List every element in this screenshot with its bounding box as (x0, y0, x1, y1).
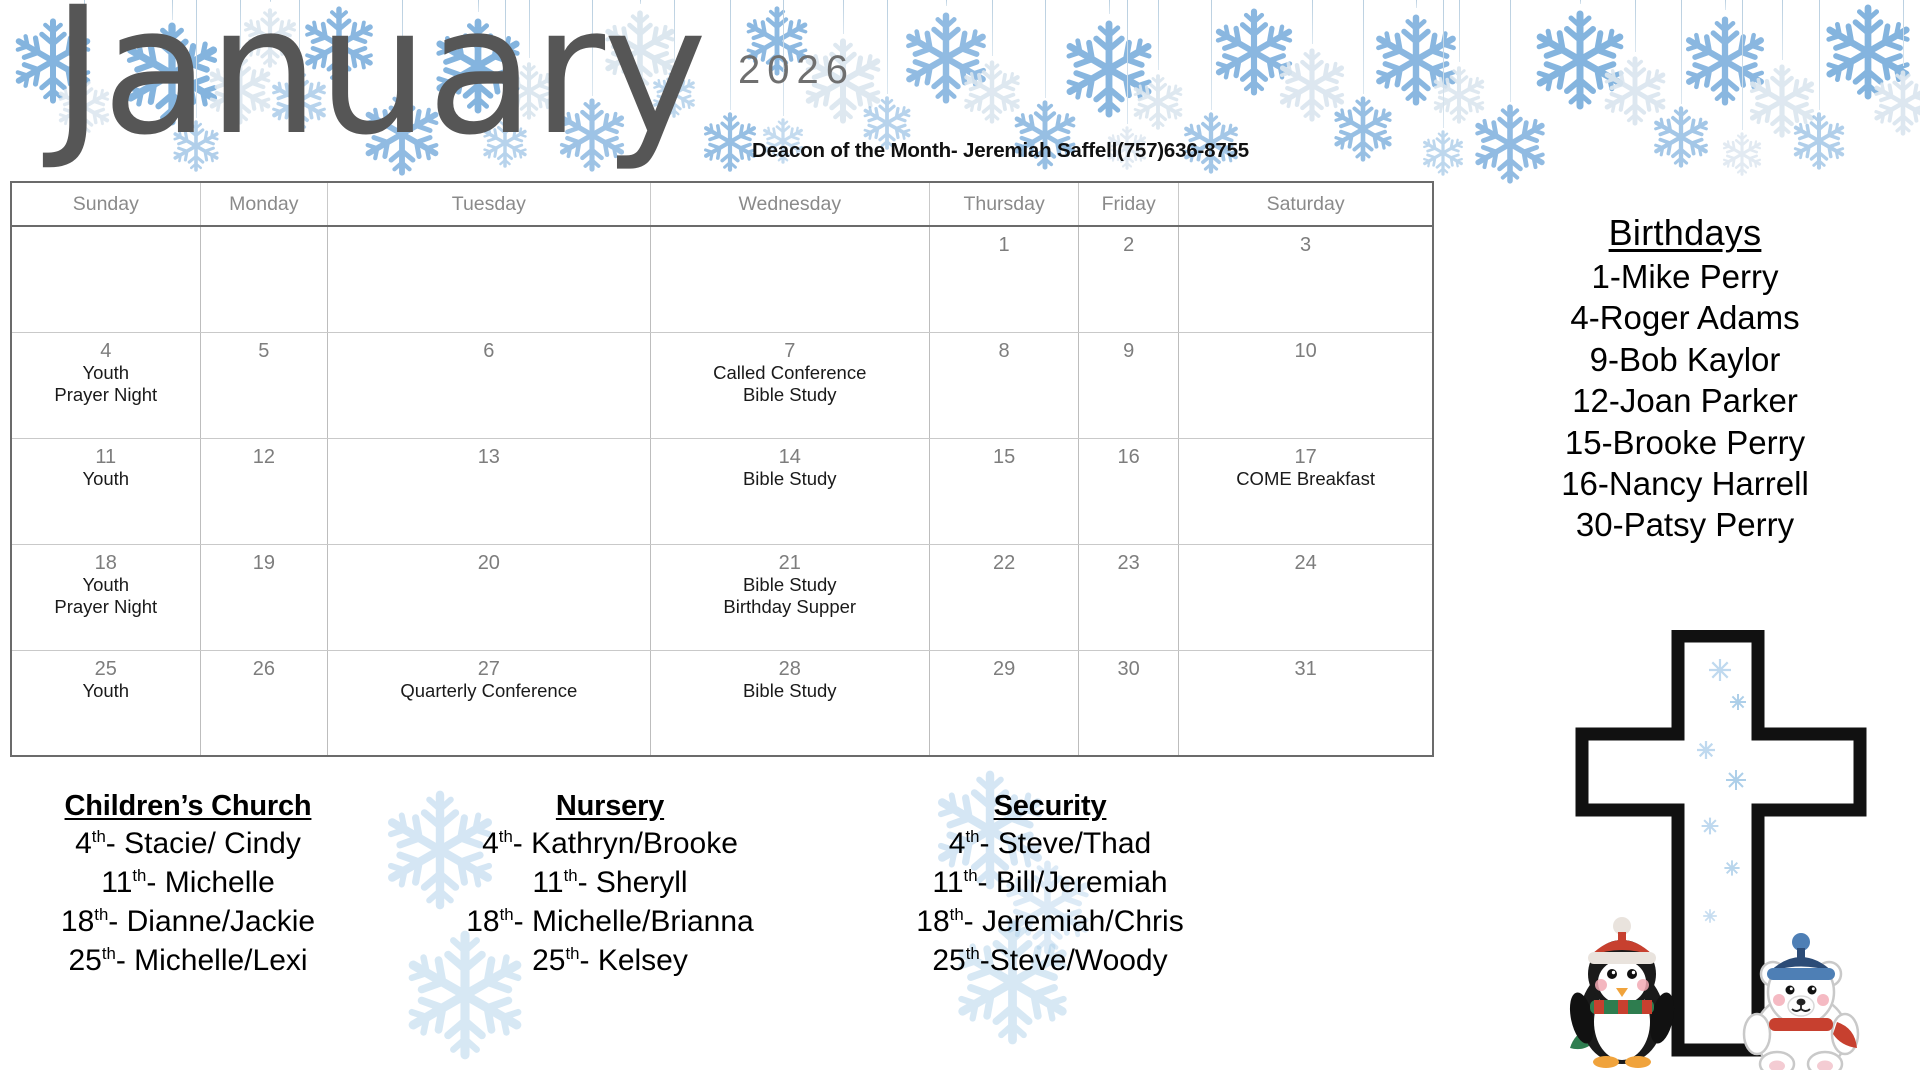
year-label: 2026 (738, 48, 855, 93)
roster-entry-names: - Bill/Jeremiah (978, 866, 1168, 899)
roster-title: Children’s Church (8, 790, 368, 823)
month-calendar: SundayMondayTuesdayWednesdayThursdayFrid… (10, 181, 1434, 757)
snowflake-icon (1820, 4, 1916, 100)
snowflake-string (843, 0, 844, 34)
snowflake-string (1725, 0, 1726, 10)
snowflake-string (1109, 0, 1110, 14)
calendar-day-30[interactable]: 30 (1079, 650, 1179, 756)
calendar-header-row: SundayMondayTuesdayWednesdayThursdayFrid… (11, 182, 1433, 226)
snowflake-string (1127, 0, 1128, 124)
roster-entry-day: 4 (75, 827, 92, 860)
day-number: 17 (1179, 439, 1432, 468)
snowflake-icon (1600, 56, 1670, 126)
roster-entry-day: 11 (101, 866, 132, 899)
day-number: 28 (651, 651, 930, 680)
roster-entry-ordinal: th (132, 866, 146, 885)
snowflake-string (730, 0, 731, 110)
roster-entry-day: 25 (532, 944, 565, 977)
roster-security: Security 4th- Steve/Thad11th- Bill/Jerem… (850, 790, 1250, 980)
roster-entry-ordinal: th (92, 827, 106, 846)
roster-entry-names: - Kelsey (580, 944, 688, 977)
snowflake-string (1819, 0, 1820, 110)
birthday-item: 9-Bob Kaylor (1470, 339, 1900, 380)
calendar-day-16[interactable]: 16 (1079, 438, 1179, 544)
calendar-day-29[interactable]: 29 (930, 650, 1079, 756)
snowflake-icon (1420, 130, 1466, 176)
birthdays-title: Birthdays (1470, 212, 1900, 254)
day-event: COME Breakfast (1179, 468, 1432, 491)
calendar-day-12[interactable]: 12 (200, 438, 328, 544)
day-number: 7 (651, 333, 930, 362)
roster-entry: 25th- Michelle/Lexi (8, 941, 368, 980)
roster-entry-ordinal: th (564, 866, 578, 885)
roster-entry-names: - Michelle (146, 866, 274, 899)
roster-entry: 11th- Sheryll (430, 863, 790, 902)
day-event: Quarterly Conference (328, 680, 649, 703)
snowflake-string (1459, 0, 1460, 62)
calendar-day-empty[interactable] (11, 226, 200, 332)
weekday-header-wednesday: Wednesday (650, 182, 930, 226)
calendar-day-10[interactable]: 10 (1179, 332, 1433, 438)
snowflake-icon (1870, 70, 1920, 136)
birthday-item: 30-Patsy Perry (1470, 504, 1900, 545)
calendar-day-21[interactable]: 21Bible StudyBirthday Supper (650, 544, 930, 650)
day-event: Prayer Night (12, 384, 200, 407)
day-number: 11 (12, 439, 200, 468)
roster-entry: 18th- Jeremiah/Chris (850, 902, 1250, 941)
day-event: Bible Study (651, 574, 930, 597)
deacon-of-the-month: Deacon of the Month- Jeremiah Saffell(75… (752, 139, 1249, 163)
birthday-item: 1-Mike Perry (1470, 256, 1900, 297)
snowflake-icon (900, 12, 992, 104)
roster-entries: 4th- Stacie/ Cindy11th- Michelle18th- Di… (8, 824, 368, 980)
day-event: Birthday Supper (651, 596, 930, 619)
roster-entry-day: 25 (932, 944, 965, 977)
weekday-header-tuesday: Tuesday (328, 182, 650, 226)
roster-title: Security (850, 790, 1250, 823)
roster-entry: 4th- Kathryn/Brooke (430, 824, 790, 863)
calendar-day-empty[interactable] (328, 226, 650, 332)
snowflake-icon (1680, 16, 1770, 106)
birthday-item: 16-Nancy Harrell (1470, 463, 1900, 504)
roster-entry: 11th- Bill/Jeremiah (850, 863, 1250, 902)
birthday-item: 15-Brooke Perry (1470, 422, 1900, 463)
calendar-day-empty[interactable] (650, 226, 930, 332)
day-event: Called Conference (651, 362, 930, 385)
roster-entry: 11th- Michelle (8, 863, 368, 902)
calendar-day-15[interactable]: 15 (930, 438, 1079, 544)
day-number: 15 (930, 439, 1078, 468)
day-event: Youth (12, 574, 200, 597)
birthday-item: 12-Joan Parker (1470, 380, 1900, 421)
snowflake-icon (1060, 20, 1158, 118)
day-number: 10 (1179, 333, 1432, 362)
calendar-day-3[interactable]: 3 (1179, 226, 1433, 332)
calendar-day-28[interactable]: 28Bible Study (650, 650, 930, 756)
day-event: Youth (12, 680, 200, 703)
roster-entry-day: 18 (916, 905, 949, 938)
calendar-week-row: 11Youth121314Bible Study151617COME Break… (11, 438, 1433, 544)
snowflake-string (1045, 0, 1046, 98)
day-number: 19 (201, 545, 328, 574)
snowflake-icon (1650, 106, 1712, 168)
snowflake-icon (1720, 132, 1764, 176)
day-event: Youth (12, 362, 200, 385)
day-number: 12 (201, 439, 328, 468)
roster-title: Nursery (430, 790, 790, 823)
roster-entry-names: - Jeremiah/Chris (964, 905, 1184, 938)
roster-entry-names: - Stacie/ Cindy (106, 827, 301, 860)
calendar-day-22[interactable]: 22 (930, 544, 1079, 650)
day-number: 24 (1179, 545, 1432, 574)
calendar-week-row: 123 (11, 226, 1433, 332)
calendar-day-6[interactable]: 6 (328, 332, 650, 438)
roster-entry-day: 18 (61, 905, 94, 938)
snowflake-icon (700, 112, 760, 172)
calendar-day-20[interactable]: 20 (328, 544, 650, 650)
roster-entry-names: - Michelle/Brianna (514, 905, 754, 938)
day-number: 27 (328, 651, 649, 680)
roster-entry-names: - Steve/Thad (979, 827, 1151, 860)
roster-nursery: Nursery 4th- Kathryn/Brooke11th- Sheryll… (430, 790, 790, 980)
roster-entry: 4th- Steve/Thad (850, 824, 1250, 863)
weekday-header-monday: Monday (200, 182, 328, 226)
snowflake-string (1211, 0, 1212, 110)
calendar-day-26[interactable]: 26 (200, 650, 328, 756)
calendar-day-11[interactable]: 11Youth (11, 438, 200, 544)
weekday-header-sunday: Sunday (11, 182, 200, 226)
calendar-day-5[interactable]: 5 (200, 332, 328, 438)
day-number: 16 (1079, 439, 1178, 468)
snowflake-icon (1790, 112, 1848, 170)
day-number: 6 (328, 333, 649, 362)
snowflake-icon (1275, 48, 1349, 122)
snowflake-icon (960, 60, 1024, 124)
day-number: 30 (1079, 651, 1178, 680)
snowflake-string (1742, 0, 1743, 130)
snowflake-string (1580, 0, 1581, 4)
snowflake-string (1363, 0, 1364, 94)
calendar-page: January 2026 Deacon of the Month- Jeremi… (0, 0, 1920, 1080)
page-title: January (52, 0, 705, 160)
roster-entry-day: 4 (482, 827, 499, 860)
snowflake-icon (1130, 74, 1186, 130)
snowflake-icon (1330, 96, 1396, 162)
day-number: 8 (930, 333, 1078, 362)
snowflake-string (1635, 0, 1636, 52)
calendar-day-13[interactable]: 13 (328, 438, 650, 544)
day-event: Bible Study (651, 384, 930, 407)
day-number: 9 (1079, 333, 1178, 362)
snowflake-string (887, 0, 888, 94)
roster-entry-day: 18 (466, 905, 499, 938)
calendar-day-27[interactable]: 27Quarterly Conference (328, 650, 650, 756)
snowflake-string (1158, 0, 1159, 70)
roster-entry-day: 11 (532, 866, 563, 899)
day-number: 22 (930, 545, 1078, 574)
day-number: 5 (201, 333, 328, 362)
day-number: 23 (1079, 545, 1178, 574)
snowflake-string (1443, 0, 1444, 128)
calendar-body: 1234YouthPrayer Night567Called Conferenc… (11, 226, 1433, 756)
day-number: 3 (1179, 227, 1432, 256)
birthdays-panel: Birthdays 1-Mike Perry4-Roger Adams9-Bob… (1470, 212, 1900, 546)
roster-entry-names: - Michelle/Lexi (116, 944, 308, 977)
roster-entry-ordinal: th (499, 827, 513, 846)
roster-entry-ordinal: th (566, 944, 580, 963)
day-number: 13 (328, 439, 649, 468)
roster-entry-ordinal: th (965, 827, 979, 846)
roster-entry-names: -Steve/Woody (980, 944, 1168, 977)
calendar-day-8[interactable]: 8 (930, 332, 1079, 438)
day-number: 25 (12, 651, 200, 680)
calendar-week-row: 4YouthPrayer Night567Called ConferenceBi… (11, 332, 1433, 438)
roster-childrens-church: Children’s Church 4th- Stacie/ Cindy11th… (8, 790, 368, 980)
snowflake-string (1510, 0, 1511, 102)
day-number: 29 (930, 651, 1078, 680)
day-number: 1 (930, 227, 1078, 256)
snowflake-string (1681, 0, 1682, 104)
calendar-day-23[interactable]: 23 (1079, 544, 1179, 650)
day-number: 18 (12, 545, 200, 574)
snowflake-string (992, 0, 993, 56)
day-number: 2 (1079, 227, 1178, 256)
snowflake-string (1903, 0, 1904, 66)
roster-entries: 4th- Steve/Thad11th- Bill/Jeremiah18th- … (850, 824, 1250, 980)
roster-entry-ordinal: th (94, 905, 108, 924)
penguin-illustration (1566, 917, 1678, 1068)
calendar-day-empty[interactable] (200, 226, 328, 332)
calendar-day-7[interactable]: 7Called ConferenceBible Study (650, 332, 930, 438)
roster-entry-ordinal: th (966, 944, 980, 963)
roster-entry-day: 25 (68, 944, 101, 977)
cross-illustration (1560, 630, 1900, 1070)
weekday-header-friday: Friday (1079, 182, 1179, 226)
snowflake-icon (1530, 10, 1630, 110)
birthday-item: 4-Roger Adams (1470, 297, 1900, 338)
calendar-day-14[interactable]: 14Bible Study (650, 438, 930, 544)
roster-entry-ordinal: th (964, 866, 978, 885)
roster-entry-names: - Kathryn/Brooke (513, 827, 738, 860)
calendar-week-row: 18YouthPrayer Night192021Bible StudyBirt… (11, 544, 1433, 650)
day-event: Prayer Night (12, 596, 200, 619)
roster-entry-ordinal: th (950, 905, 964, 924)
calendar-day-17[interactable]: 17COME Breakfast (1179, 438, 1433, 544)
roster-entry-ordinal: th (102, 944, 116, 963)
snowflake-icon (1430, 66, 1488, 124)
day-number: 21 (651, 545, 930, 574)
roster-entries: 4th- Kathryn/Brooke11th- Sheryll18th- Mi… (430, 824, 790, 980)
day-number: 26 (201, 651, 328, 680)
day-number: 4 (12, 333, 200, 362)
calendar-day-2[interactable]: 2 (1079, 226, 1179, 332)
calendar-day-4[interactable]: 4YouthPrayer Night (11, 332, 200, 438)
roster-entry-day: 11 (932, 866, 963, 899)
calendar-day-24[interactable]: 24 (1179, 544, 1433, 650)
calendar-day-9[interactable]: 9 (1079, 332, 1179, 438)
birthdays-list: 1-Mike Perry4-Roger Adams9-Bob Kaylor12-… (1470, 256, 1900, 546)
weekday-header-thursday: Thursday (930, 182, 1079, 226)
day-event: Bible Study (651, 680, 930, 703)
calendar-day-1[interactable]: 1 (930, 226, 1079, 332)
day-number: 20 (328, 545, 649, 574)
calendar-day-19[interactable]: 19 (200, 544, 328, 650)
day-number: 14 (651, 439, 930, 468)
weekday-header-saturday: Saturday (1179, 182, 1433, 226)
roster-entry: 25th- Kelsey (430, 941, 790, 980)
snowflake-icon (1370, 14, 1462, 106)
snowflake-icon (1745, 64, 1819, 138)
roster-entry-ordinal: th (500, 905, 514, 924)
snowflake-string (1416, 0, 1417, 8)
snowflake-icon (1470, 104, 1550, 184)
snowflake-string (1782, 0, 1783, 60)
roster-entry: 4th- Stacie/ Cindy (8, 824, 368, 863)
roster-entry: 25th-Steve/Woody (850, 941, 1250, 980)
roster-entry-names: - Sheryll (578, 866, 688, 899)
roster-entry: 18th- Michelle/Brianna (430, 902, 790, 941)
day-event: Bible Study (651, 468, 930, 491)
day-event: Youth (12, 468, 200, 491)
snowflake-icon (1210, 8, 1298, 96)
calendar-day-25[interactable]: 25Youth (11, 650, 200, 756)
snowflake-string (1312, 0, 1313, 44)
calendar-day-18[interactable]: 18YouthPrayer Night (11, 544, 200, 650)
calendar-day-31[interactable]: 31 (1179, 650, 1433, 756)
roster-entry-names: - Dianne/Jackie (108, 905, 315, 938)
calendar-week-row: 25Youth2627Quarterly Conference28Bible S… (11, 650, 1433, 756)
roster-entry: 18th- Dianne/Jackie (8, 902, 368, 941)
snowflake-string (946, 0, 947, 6)
day-number: 31 (1179, 651, 1432, 680)
roster-entry-day: 4 (949, 827, 966, 860)
